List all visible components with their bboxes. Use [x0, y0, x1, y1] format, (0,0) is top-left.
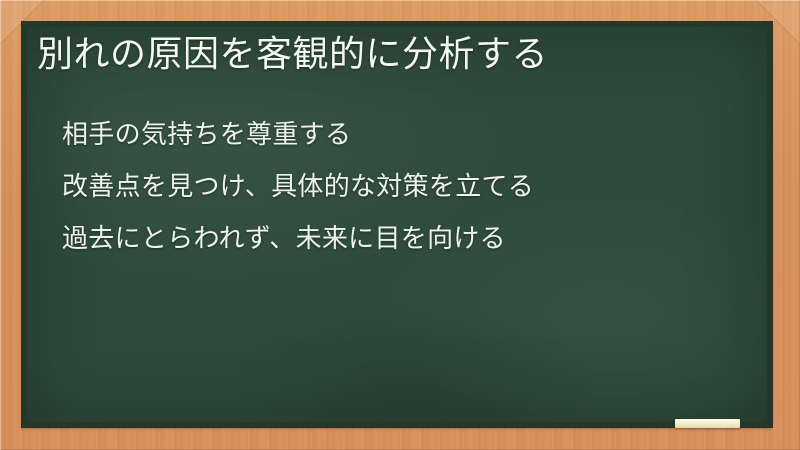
board-line-1: 相手の気持ちを尊重する [62, 109, 752, 161]
blackboard-scene: 別れの原因を客観的に分析する 相手の気持ちを尊重する 改善点を見つけ、具体的な対… [0, 0, 800, 450]
chalkboard-surface: 別れの原因を客観的に分析する 相手の気持ちを尊重する 改善点を見つけ、具体的な対… [22, 22, 772, 427]
board-bullet-list: 相手の気持ちを尊重する 改善点を見つけ、具体的な対策を立てる 過去にとらわれず、… [62, 109, 752, 265]
board-title: 別れの原因を客観的に分析する [37, 33, 757, 77]
chalkboard-content: 別れの原因を客観的に分析する 相手の気持ちを尊重する 改善点を見つけ、具体的な対… [27, 27, 767, 422]
board-line-2: 改善点を見つけ、具体的な対策を立てる [62, 161, 752, 213]
board-line-3: 過去にとらわれず、未来に目を向ける [62, 213, 752, 265]
